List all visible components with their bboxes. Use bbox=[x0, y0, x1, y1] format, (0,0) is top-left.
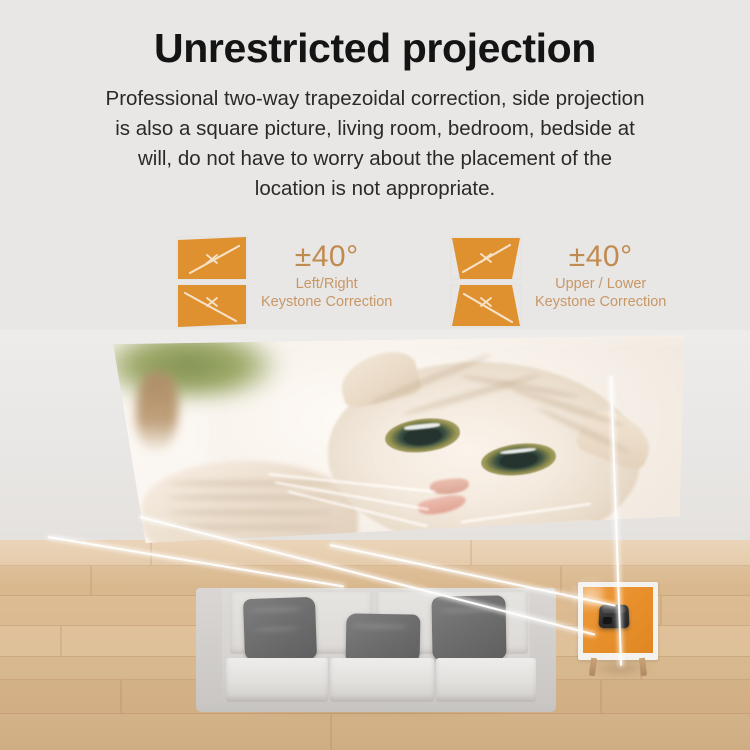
projector-top-highlight bbox=[602, 607, 626, 614]
living-room-scene bbox=[0, 330, 750, 750]
badge-upper-lower-keystone: ±40° Upper / Lower Keystone Correction bbox=[450, 234, 666, 330]
subtitle-line-2: is also a square picture, living room, b… bbox=[23, 114, 727, 144]
sofa-arm-left bbox=[196, 588, 222, 700]
subtitle-line-4: location is not appropriate. bbox=[23, 174, 727, 204]
badge-left-right-text: ±40° Left/Right Keystone Correction bbox=[261, 234, 392, 311]
product-feature-image: Unrestricted projection Professional two… bbox=[0, 0, 750, 750]
badge-left-right-keystone: ±40° Left/Right Keystone Correction bbox=[176, 234, 392, 330]
badge-upper-lower-text: ±40° Upper / Lower Keystone Correction bbox=[535, 234, 666, 311]
mini-projector bbox=[598, 605, 629, 629]
hero-section: Unrestricted projection Professional two… bbox=[0, 0, 750, 215]
keystone-horizontal-icon bbox=[176, 236, 248, 328]
sofa-seat-cushion-left bbox=[226, 658, 328, 702]
badge-left-right-line1: Left/Right bbox=[261, 275, 392, 293]
badge-left-right-line2: Keystone Correction bbox=[261, 293, 392, 311]
sofa bbox=[196, 566, 556, 714]
keystone-badges: ±40° Left/Right Keystone Correction bbox=[0, 234, 750, 330]
throw-pillow-left bbox=[243, 597, 317, 661]
keystone-vertical-icon bbox=[450, 236, 522, 328]
page-title: Unrestricted projection bbox=[0, 24, 750, 73]
badge-upper-lower-line1: Upper / Lower bbox=[535, 275, 666, 293]
throw-pillow-center bbox=[346, 613, 421, 664]
badge-upper-lower-line2: Keystone Correction bbox=[535, 293, 666, 311]
cat-photo bbox=[88, 334, 688, 546]
badge-upper-lower-degrees: ±40° bbox=[535, 240, 666, 273]
projected-screen-image bbox=[88, 334, 688, 546]
hero-subtitle: Professional two-way trapezoidal correct… bbox=[23, 84, 727, 204]
subtitle-line-3: will, do not have to worry about the pla… bbox=[23, 144, 727, 174]
throw-pillow-right bbox=[431, 595, 506, 660]
sofa-seat-cushion-center bbox=[330, 658, 434, 702]
sofa-seat-cushion-right bbox=[436, 658, 536, 702]
blurred-stem bbox=[134, 371, 180, 454]
badge-left-right-degrees: ±40° bbox=[261, 240, 392, 273]
projector-lens bbox=[603, 617, 612, 624]
projector-beam-glow bbox=[552, 570, 604, 612]
subtitle-line-1: Professional two-way trapezoidal correct… bbox=[23, 84, 727, 114]
cabinet-leg-right bbox=[639, 658, 647, 677]
